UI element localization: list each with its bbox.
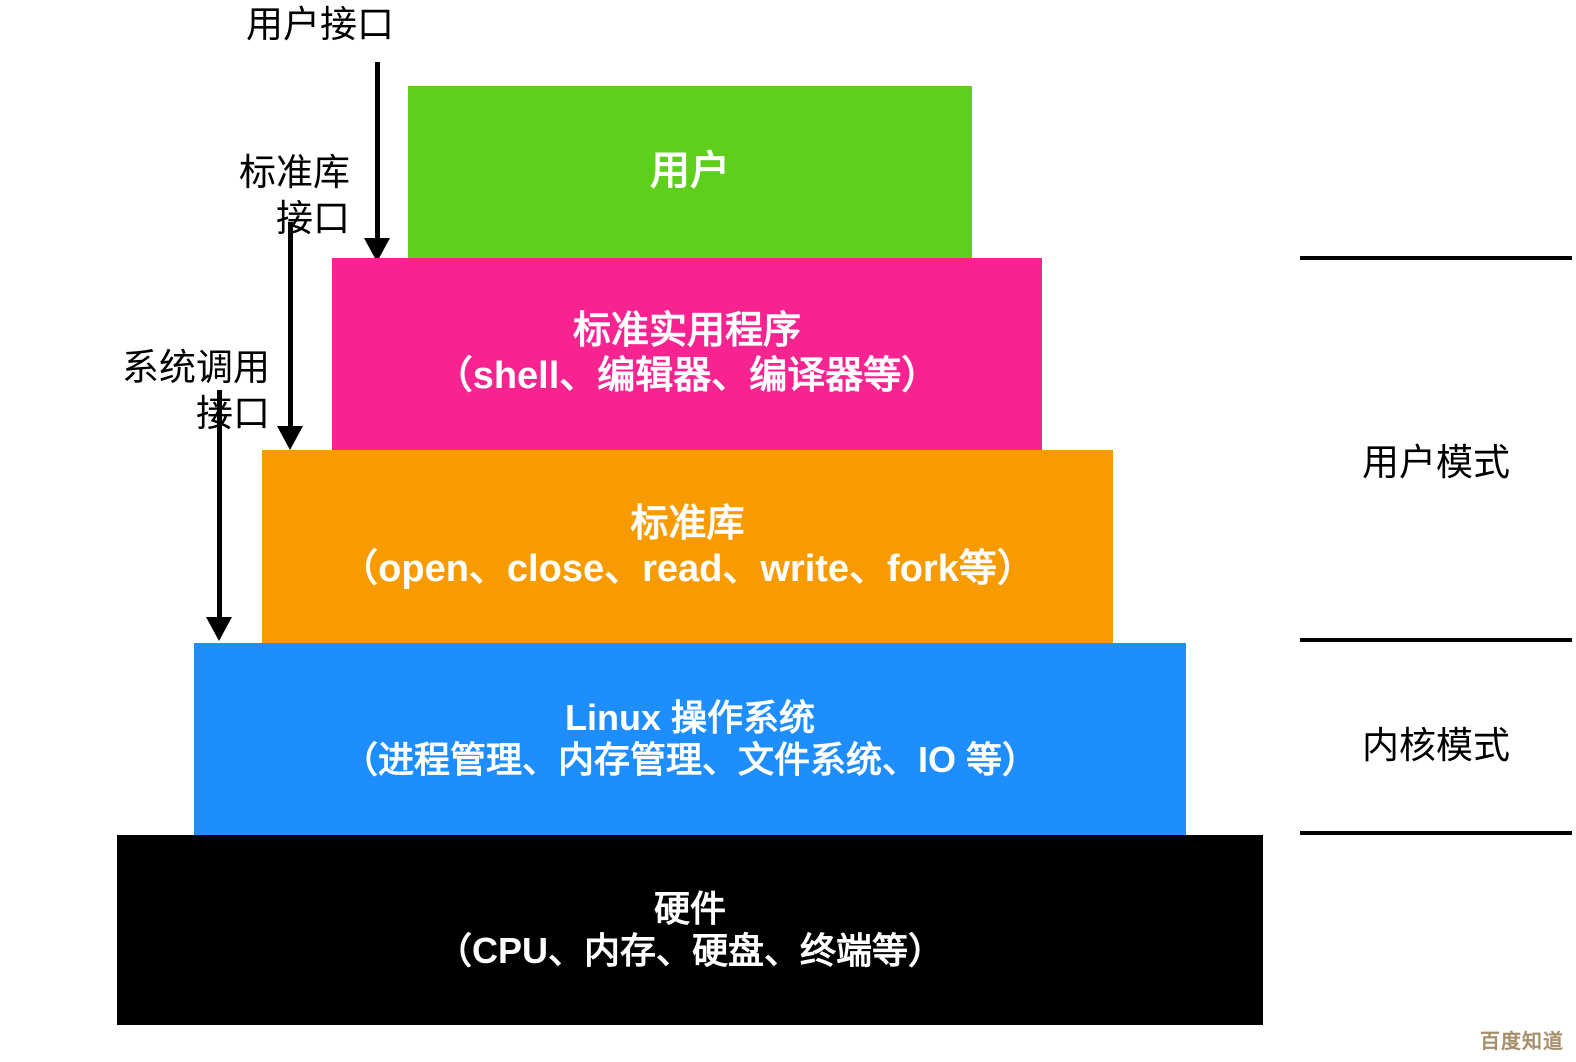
layer-linux-os: Linux 操作系统 （进程管理、内存管理、文件系统、IO 等） — [194, 643, 1186, 835]
watermark: 百度知道 — [1480, 1025, 1564, 1054]
layer-standard-utilities-line1: 标准实用程序 — [573, 309, 801, 354]
layer-linux-os-line2: （进程管理、内存管理、文件系统、IO 等） — [342, 739, 1038, 781]
layer-standard-utilities: 标准实用程序 （shell、编辑器、编译器等） — [332, 258, 1042, 450]
mode-label-kernel-mode: 内核模式 — [1300, 715, 1572, 769]
diagram-canvas: 用户接口 标准库 接口 系统调用 接口 用户 标准实用程序 （shell、编辑器… — [0, 0, 1576, 1062]
arrow-shaft — [288, 222, 293, 426]
arrow-head — [277, 426, 303, 450]
label-user-interface: 用户接口 — [160, 2, 480, 48]
arrow-shaft — [375, 62, 380, 238]
mode-divider-top — [1300, 256, 1572, 260]
layer-standard-library-line1: 标准库 — [630, 502, 744, 547]
layer-linux-os-line1: Linux 操作系统 — [565, 697, 815, 739]
label-standard-library-interface: 标准库 接口 — [100, 150, 350, 243]
layer-hardware-line1: 硬件 — [654, 888, 726, 930]
mode-divider-middle — [1300, 638, 1572, 642]
layer-standard-utilities-line2: （shell、编辑器、编译器等） — [435, 354, 940, 399]
layer-hardware: 硬件 （CPU、内存、硬盘、终端等） — [117, 835, 1263, 1025]
layer-standard-library-line2: （open、close、read、write、fork等） — [340, 547, 1035, 592]
layer-hardware-line2: （CPU、内存、硬盘、终端等） — [436, 930, 944, 972]
arrow-shaft — [217, 390, 222, 617]
mode-label-user-mode: 用户模式 — [1300, 432, 1572, 486]
layer-user: 用户 — [408, 86, 972, 258]
layer-standard-library: 标准库 （open、close、read、write、fork等） — [262, 450, 1113, 643]
layer-user-line1: 用户 — [650, 148, 730, 195]
mode-divider-bottom — [1300, 831, 1572, 835]
label-system-call-interface: 系统调用 接口 — [20, 345, 270, 438]
arrow-head — [206, 617, 232, 641]
